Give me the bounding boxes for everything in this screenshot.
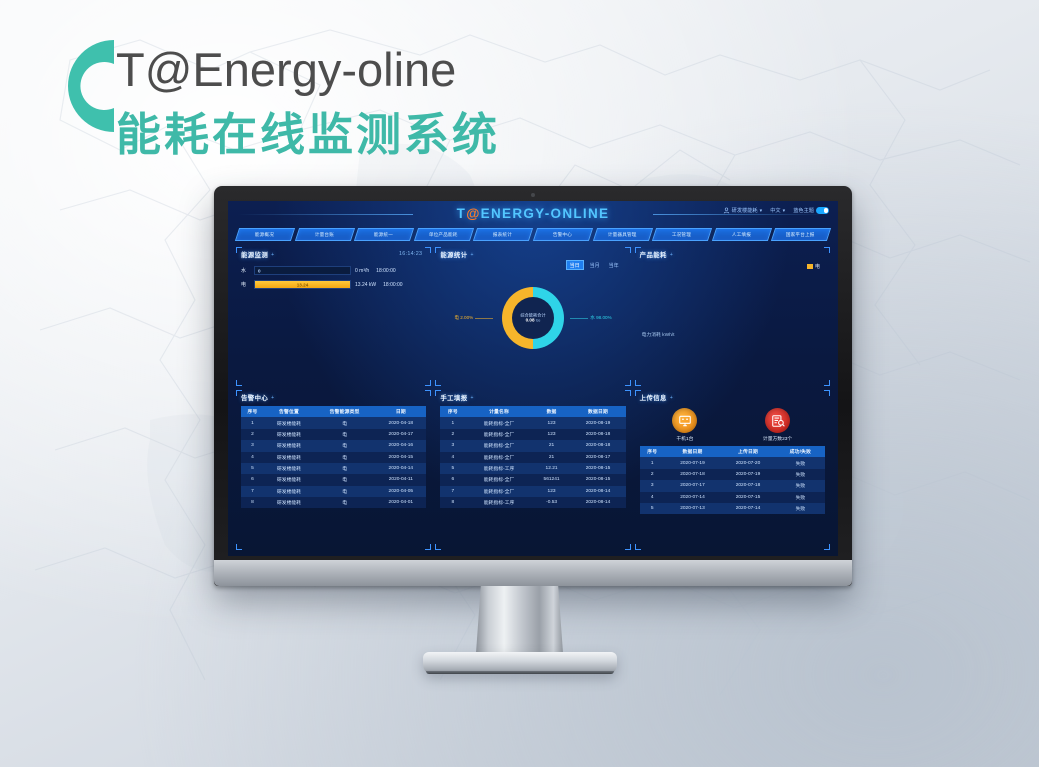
panel-title: 上传信息 + (640, 393, 825, 402)
theme-toggle[interactable] (816, 207, 829, 214)
dashboard-title-suffix: ENERGY-ONLINE (481, 206, 610, 221)
table-row: 7能耗指标-全厂1232020-08-14 (440, 486, 625, 497)
cell-meter: 能耗指标-全厂 (465, 486, 532, 497)
cell-index: 8 (241, 497, 264, 508)
cell-index: 4 (440, 452, 465, 463)
energy-reading: 13.24 kW (355, 282, 376, 288)
nav-item-label: 国家平台上报 (787, 232, 816, 238)
current-time: 16:14:23 (399, 251, 422, 257)
donut-center-value: 0.08 (526, 318, 535, 323)
cell-value: 123 (533, 429, 571, 440)
upload-stat-row: 干机1台 (640, 408, 825, 442)
donut-chart: 电 2.00% 综合能耗合计 0.08 tce (440, 259, 625, 377)
cell-index: 7 (241, 486, 264, 497)
cell-type: 电 (314, 474, 375, 485)
cell-index: 1 (640, 457, 665, 468)
donut-center-unit: tce (536, 319, 541, 323)
header-right-controls: 研发楼能耗 ▾ 中文 ▾ 蓝色主题 (723, 207, 829, 214)
nav-item-8[interactable]: 人工填报 (712, 228, 772, 241)
nav-item-3[interactable]: 单位产品能耗 (414, 228, 474, 241)
table-row: 3研发楼能耗电2020-04-16 (241, 440, 426, 451)
monitor-stand-neck (476, 586, 564, 660)
monitor-device: T@ENERGY-ONLINE 研发楼能耗 ▾ 中文 ▾ (214, 186, 852, 586)
table-row: 4能耗指标-全厂212020-08-17 (440, 452, 625, 463)
cell-upload-date: 2020-07-19 (720, 469, 776, 480)
column-header: 上传日期 (720, 446, 776, 457)
cell-type: 电 (314, 452, 375, 463)
dashboard-title: T@ENERGY-ONLINE (457, 206, 610, 221)
panel-title-text: 产品能耗 (640, 250, 667, 259)
panel-manual-entry: 手工填报 + 序号 计量名称 数据 数据日期 1能耗指标-全厂1232 (435, 390, 630, 550)
column-header: 序号 (640, 446, 665, 457)
energy-bar-meta: 13.24 kW 18:00:00 (355, 282, 403, 288)
column-header: 告警位置 (264, 406, 314, 417)
nav-item-label: 单位产品能耗 (429, 232, 458, 238)
table-row: 1研发楼能耗电2020-04-18 (241, 417, 426, 428)
y-axis-label: 电力消耗 kWh/t (642, 331, 675, 338)
panel-title-text: 能源统计 (440, 250, 467, 259)
cell-index: 8 (440, 497, 465, 508)
cell-value: 12.21 (533, 463, 571, 474)
panel-product-energy: 产品能耗 + 电 电力消耗 kWh/t (635, 247, 830, 386)
cell-data-date: 2020-07-19 (665, 457, 721, 468)
table-header-row: 序号 数据日期 上传日期 成功/失败 (640, 446, 825, 457)
cell-status: 失败 (776, 492, 825, 503)
nav-item-2[interactable]: 能源统一 (354, 228, 414, 241)
nav-item-0[interactable]: 能源概况 (235, 228, 295, 241)
cell-index: 1 (440, 417, 465, 428)
manual-entry-table: 序号 计量名称 数据 数据日期 1能耗指标-全厂1232020-08-19 2能… (440, 406, 625, 508)
cell-meter: 能耗指标-全厂 (465, 474, 532, 485)
nav-item-1[interactable]: 计量台账 (294, 228, 354, 241)
cell-date: 2020-04-11 (375, 474, 426, 485)
column-header: 日期 (375, 406, 426, 417)
energy-bar-row-water: 水 0 0 m³/h 18:00:00 (241, 266, 426, 275)
monitor-terminal-icon (672, 408, 697, 433)
table-row: 8能耗指标-工序-0.532020-08-14 (440, 497, 625, 508)
user-icon (723, 207, 730, 214)
language-label: 中文 (770, 207, 780, 214)
table-header-row: 序号 计量名称 数据 数据日期 (440, 406, 625, 417)
cell-upload-date: 2020-07-20 (720, 457, 776, 468)
theme-switch[interactable]: 蓝色主题 (793, 207, 829, 214)
column-header: 计量名称 (465, 406, 532, 417)
cell-value: 21 (533, 440, 571, 451)
cell-index: 2 (440, 429, 465, 440)
energy-bar-value: 0 (255, 268, 350, 273)
energy-bar-track: 13.24 (254, 280, 351, 289)
upload-stat-terminals[interactable]: 干机1台 (672, 408, 697, 442)
cell-meter: 能耗指标-全厂 (465, 417, 532, 428)
upload-stat-label: 干机1台 (672, 435, 697, 442)
cell-value: 123 (533, 417, 571, 428)
cell-index: 3 (440, 440, 465, 451)
webcam-icon (531, 193, 535, 197)
chevron-down-icon: ▾ (760, 208, 763, 214)
energy-bar-list: 水 0 0 m³/h 18:00:00 (241, 266, 426, 289)
nav-item-label: 工况管理 (672, 232, 691, 238)
cell-date: 2020-08-15 (570, 463, 625, 474)
user-label: 研发楼能耗 (732, 207, 758, 214)
monitor-screen: T@ENERGY-ONLINE 研发楼能耗 ▾ 中文 ▾ (228, 201, 838, 556)
main-nav: 能源概况 计量台账 能源统一 单位产品能耗 报表统计 告警中心 计量器具管理 工… (228, 227, 838, 242)
nav-item-label: 能源统一 (374, 232, 393, 238)
donut-center-label: 综合能耗合计 0.08 tce (520, 313, 545, 324)
nav-item-7[interactable]: 工况管理 (652, 228, 712, 241)
cell-location: 研发楼能耗 (264, 452, 314, 463)
table-row: 6能耗指标-全厂5612412020-08-15 (440, 474, 625, 485)
cell-meter: 能耗指标-工序 (465, 463, 532, 474)
cell-meter: 能耗指标-全厂 (465, 429, 532, 440)
monitor-chin (214, 560, 852, 586)
cell-index: 6 (241, 474, 264, 485)
legend-label: 电 (815, 263, 820, 270)
nav-item-label: 告警中心 (553, 232, 572, 238)
cell-upload-date: 2020-07-18 (720, 480, 776, 491)
panel-alarm-center: 告警中心 + 序号 告警位置 告警能源类型 日期 1研发楼能耗电202 (236, 390, 431, 550)
brand-title-en: T@Energy-oline (116, 46, 456, 93)
energy-timestamp: 18:00:00 (383, 282, 402, 288)
cell-type: 电 (314, 497, 375, 508)
table-row: 2研发楼能耗电2020-04-17 (241, 429, 426, 440)
table-row: 3能耗指标-全厂212020-08-18 (440, 440, 625, 451)
panel-title-text: 能源监测 (241, 250, 268, 259)
cell-location: 研发楼能耗 (264, 417, 314, 428)
expand-icon[interactable]: + (471, 395, 474, 401)
table-row: 6研发楼能耗电2020-04-11 (241, 474, 426, 485)
panel-grid: 能源监测 + 16:14:23 水 0 (228, 242, 838, 556)
cell-value: -0.53 (533, 497, 571, 508)
cell-index: 5 (440, 463, 465, 474)
cell-index: 2 (241, 429, 264, 440)
upload-table: 序号 数据日期 上传日期 成功/失败 12020-07-192020-07-20… (640, 446, 825, 514)
cell-upload-date: 2020-07-15 (720, 492, 776, 503)
nav-item-6[interactable]: 计量器具管理 (592, 228, 652, 241)
upload-stat-label: 计量方数23个 (763, 435, 792, 442)
cell-index: 1 (241, 417, 264, 428)
monitor-bezel: T@ENERGY-ONLINE 研发楼能耗 ▾ 中文 ▾ (214, 186, 852, 586)
cell-meter: 能耗指标-工序 (465, 497, 532, 508)
energy-type-label: 水 (241, 267, 250, 274)
cell-date: 2020-04-15 (375, 452, 426, 463)
nav-item-label: 计量台账 (315, 232, 334, 238)
panel-title-text: 告警中心 (241, 393, 268, 402)
panel-title: 产品能耗 + (640, 250, 825, 259)
dashboard-title-at: @ (466, 206, 480, 221)
expand-icon[interactable]: + (471, 252, 474, 258)
energy-type-label: 电 (241, 281, 250, 288)
table-row: 5能耗指标-工序12.212020-08-15 (440, 463, 625, 474)
table-header-row: 序号 告警位置 告警能源类型 日期 (241, 406, 426, 417)
upload-stat-meters[interactable]: 计量方数23个 (763, 408, 792, 442)
cell-meter: 能耗指标-全厂 (465, 452, 532, 463)
cell-value: 21 (533, 452, 571, 463)
table-row: 12020-07-192020-07-20失败 (640, 457, 825, 468)
cell-status: 失败 (776, 469, 825, 480)
panel-upload-info: 上传信息 + (635, 390, 830, 550)
energy-timestamp: 18:00:00 (376, 268, 395, 274)
table-row: 52020-07-132020-07-14失败 (640, 503, 825, 514)
column-header: 成功/失败 (776, 446, 825, 457)
legend-swatch-icon (807, 264, 813, 269)
upload-table-body: 12020-07-192020-07-20失败 22020-07-182020-… (640, 457, 825, 514)
product-legend: 电 (807, 263, 820, 270)
energy-bar-meta: 0 m³/h 18:00:00 (355, 268, 396, 274)
cell-value: 561241 (533, 474, 571, 485)
cell-data-date: 2020-07-17 (665, 480, 721, 491)
cell-upload-date: 2020-07-14 (720, 503, 776, 514)
cell-date: 2020-08-14 (570, 497, 625, 508)
cell-date: 2020-04-14 (375, 463, 426, 474)
manual-entry-table-body: 1能耗指标-全厂1232020-08-19 2能耗指标-全厂1232020-08… (440, 417, 625, 508)
table-row: 42020-07-142020-07-15失败 (640, 492, 825, 503)
expand-icon[interactable]: + (271, 252, 274, 258)
cell-type: 电 (314, 486, 375, 497)
dashboard-header: T@ENERGY-ONLINE 研发楼能耗 ▾ 中文 ▾ (228, 201, 838, 227)
table-row: 2能耗指标-全厂1232020-08-18 (440, 429, 625, 440)
table-row: 7研发楼能耗电2020-04-05 (241, 486, 426, 497)
donut-legend-electric-label: 电 2.00% (454, 315, 473, 321)
panel-title: 手工填报 + (440, 393, 625, 402)
cell-index: 3 (241, 440, 264, 451)
user-menu[interactable]: 研发楼能耗 ▾ (723, 207, 763, 214)
table-row: 22020-07-182020-07-19失败 (640, 469, 825, 480)
cell-value: 123 (533, 486, 571, 497)
c-arc-logo-icon (52, 30, 124, 142)
expand-icon[interactable]: + (271, 395, 274, 401)
cell-date: 2020-04-17 (375, 429, 426, 440)
language-switch[interactable]: 中文 ▾ (770, 207, 785, 214)
cell-index: 3 (640, 480, 665, 491)
cell-index: 4 (241, 452, 264, 463)
panel-title: 告警中心 + (241, 393, 426, 402)
cell-date: 2020-04-05 (375, 486, 426, 497)
cell-status: 失败 (776, 503, 825, 514)
cell-index: 2 (640, 469, 665, 480)
cell-location: 研发楼能耗 (264, 474, 314, 485)
panel-energy-monitor: 能源监测 + 16:14:23 水 0 (236, 247, 431, 386)
table-row: 4研发楼能耗电2020-04-15 (241, 452, 426, 463)
panel-energy-stats: 能源统计 + 当日 当月 当年 电 2.00% (435, 247, 630, 386)
panel-title-text: 手工填报 (440, 393, 467, 402)
monitor-stand-base (423, 652, 617, 674)
cell-data-date: 2020-07-18 (665, 469, 721, 480)
column-header: 告警能源类型 (314, 406, 375, 417)
cell-status: 失败 (776, 480, 825, 491)
nav-item-5[interactable]: 告警中心 (533, 228, 593, 241)
dashboard: T@ENERGY-ONLINE 研发楼能耗 ▾ 中文 ▾ (228, 201, 838, 556)
energy-bar-value: 13.24 (255, 282, 350, 287)
dashboard-title-prefix: T (457, 206, 467, 221)
nav-item-label: 能源概况 (255, 232, 274, 238)
cell-date: 2020-04-01 (375, 497, 426, 508)
donut-ring: 综合能耗合计 0.08 tce (502, 287, 564, 349)
table-row: 32020-07-172020-07-18失败 (640, 480, 825, 491)
column-header: 数据 (533, 406, 571, 417)
table-row: 5研发楼能耗电2020-04-14 (241, 463, 426, 474)
cell-date: 2020-08-19 (570, 417, 625, 428)
cell-location: 研发楼能耗 (264, 463, 314, 474)
column-header: 数据日期 (570, 406, 625, 417)
column-header: 序号 (241, 406, 264, 417)
cell-location: 研发楼能耗 (264, 440, 314, 451)
table-row: 8研发楼能耗电2020-04-01 (241, 497, 426, 508)
energy-bar-track: 0 (254, 266, 351, 275)
nav-item-label: 计量器具管理 (608, 232, 637, 238)
header-rule-right (653, 214, 828, 215)
column-header: 数据日期 (665, 446, 721, 457)
cell-location: 研发楼能耗 (264, 486, 314, 497)
nav-item-label: 人工填报 (732, 232, 751, 238)
cell-index: 4 (640, 492, 665, 503)
table-row: 1能耗指标-全厂1232020-08-19 (440, 417, 625, 428)
header-rule-left (238, 214, 413, 215)
cell-status: 失败 (776, 457, 825, 468)
cell-location: 研发楼能耗 (264, 429, 314, 440)
cell-data-date: 2020-07-13 (665, 503, 721, 514)
theme-label: 蓝色主题 (793, 207, 814, 214)
nav-item-4[interactable]: 报表统计 (473, 228, 533, 241)
cell-index: 5 (640, 503, 665, 514)
cell-date: 2020-08-14 (570, 486, 625, 497)
document-search-icon (765, 408, 790, 433)
cell-type: 电 (314, 463, 375, 474)
brand-header: T@Energy-oline 能耗在线监测系统 (52, 24, 612, 154)
donut-legend-water-label: 水 98.00% (590, 315, 611, 321)
cell-date: 2020-08-15 (570, 474, 625, 485)
donut-legend-electric: 电 2.00% (454, 315, 493, 321)
nav-item-label: 报表统计 (494, 232, 513, 238)
brand-title-cn: 能耗在线监测系统 (116, 112, 500, 157)
column-header: 序号 (440, 406, 465, 417)
chevron-down-icon: ▾ (783, 208, 786, 214)
alarm-table-body: 1研发楼能耗电2020-04-18 2研发楼能耗电2020-04-17 3研发楼… (241, 417, 426, 508)
cell-type: 电 (314, 429, 375, 440)
nav-item-9[interactable]: 国家平台上报 (771, 228, 831, 241)
cell-date: 2020-08-17 (570, 452, 625, 463)
panel-title-text: 上传信息 (640, 393, 667, 402)
cell-type: 电 (314, 440, 375, 451)
cell-date: 2020-04-16 (375, 440, 426, 451)
cell-type: 电 (314, 417, 375, 428)
cell-meter: 能耗指标-全厂 (465, 440, 532, 451)
cell-index: 5 (241, 463, 264, 474)
cell-date: 2020-08-18 (570, 440, 625, 451)
energy-reading: 0 m³/h (355, 268, 369, 274)
cell-index: 7 (440, 486, 465, 497)
cell-index: 6 (440, 474, 465, 485)
alarm-table: 序号 告警位置 告警能源类型 日期 1研发楼能耗电2020-04-18 2研发楼… (241, 406, 426, 508)
cell-location: 研发楼能耗 (264, 497, 314, 508)
panel-title: 能源统计 + (440, 250, 625, 259)
expand-icon[interactable]: + (670, 252, 673, 258)
energy-bar-row-electric: 电 13.24 13.24 kW 18:00:00 (241, 280, 426, 289)
cell-date: 2020-08-18 (570, 429, 625, 440)
donut-legend-water: 水 98.00% (570, 315, 611, 321)
cell-date: 2020-04-18 (375, 417, 426, 428)
cell-data-date: 2020-07-14 (665, 492, 721, 503)
expand-icon[interactable]: + (670, 395, 673, 401)
